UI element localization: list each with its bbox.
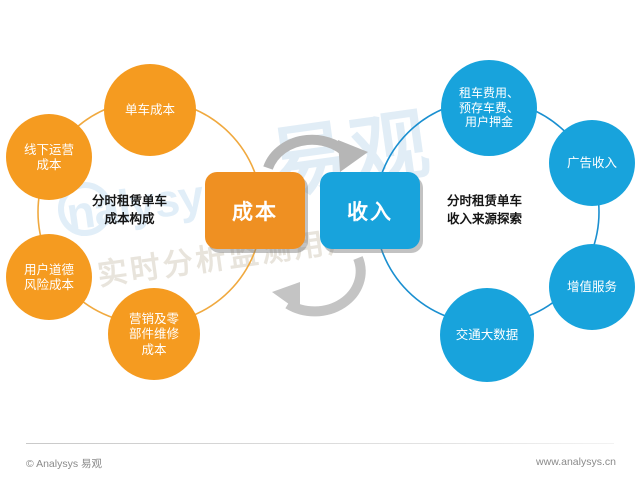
node-traffic-bigdata-line-1: 交通大数据 [456, 327, 519, 342]
footer-divider [26, 443, 614, 444]
node-marketing-parts[interactable]: 营销及零 部件维修 成本 [108, 288, 200, 380]
node-user-moral-risk-line-1: 用户道德 [24, 262, 74, 277]
node-marketing-parts-line-2: 部件维修 [129, 326, 179, 341]
node-ad-revenue[interactable]: 广告收入 [549, 120, 635, 206]
hub-revenue-label: 收入 [347, 196, 393, 226]
node-ad-revenue-line-1: 广告收入 [567, 155, 617, 170]
left-caption-line-2: 成本构成 [92, 210, 167, 228]
footer-website[interactable]: www.analysys.cn [536, 456, 616, 468]
node-bike-cost-line-1: 单车成本 [125, 102, 175, 117]
node-offline-ops-line-2: 成本 [24, 157, 74, 172]
hub-cost-label: 成本 [232, 196, 278, 226]
right-diagram-caption: 分时租赁单车 收入来源探索 [447, 192, 522, 228]
hub-revenue-box[interactable]: 收入 [320, 172, 420, 249]
node-marketing-parts-line-3: 成本 [129, 342, 179, 357]
node-traffic-bigdata[interactable]: 交通大数据 [440, 288, 534, 382]
node-user-moral-risk-line-2: 风险成本 [24, 277, 74, 292]
node-value-added-line-1: 增值服务 [567, 279, 617, 294]
node-marketing-parts-line-1: 营销及零 [129, 311, 179, 326]
left-caption-line-1: 分时租赁单车 [92, 192, 167, 210]
node-rental-fees-line-2: 预存车费、 [459, 101, 519, 116]
node-rental-fees-line-3: 用户押金 [459, 115, 519, 130]
arrow-revenue-to-cost [272, 258, 361, 312]
node-user-moral-risk[interactable]: 用户道德 风险成本 [6, 234, 92, 320]
right-caption-line-1: 分时租赁单车 [447, 192, 522, 210]
node-rental-fees-line-1: 租车费用、 [459, 86, 519, 101]
node-rental-fees[interactable]: 租车费用、 预存车费、 用户押金 [441, 60, 537, 156]
node-bike-cost[interactable]: 单车成本 [104, 64, 196, 156]
left-diagram-caption: 分时租赁单车 成本构成 [92, 192, 167, 228]
right-caption-line-2: 收入来源探索 [447, 210, 522, 228]
hub-cost-box[interactable]: 成本 [205, 172, 305, 249]
node-offline-ops[interactable]: 线下运营 成本 [6, 114, 92, 200]
footer-copyright: © Analysys 易观 [26, 456, 102, 471]
node-offline-ops-line-1: 线下运营 [24, 142, 74, 157]
node-value-added[interactable]: 增值服务 [549, 244, 635, 330]
infographic-canvas: 易观 nalysys 实时分析监测用户 单车成本 线下运营 成本 [0, 0, 640, 480]
arrow-cost-to-revenue [268, 140, 368, 172]
